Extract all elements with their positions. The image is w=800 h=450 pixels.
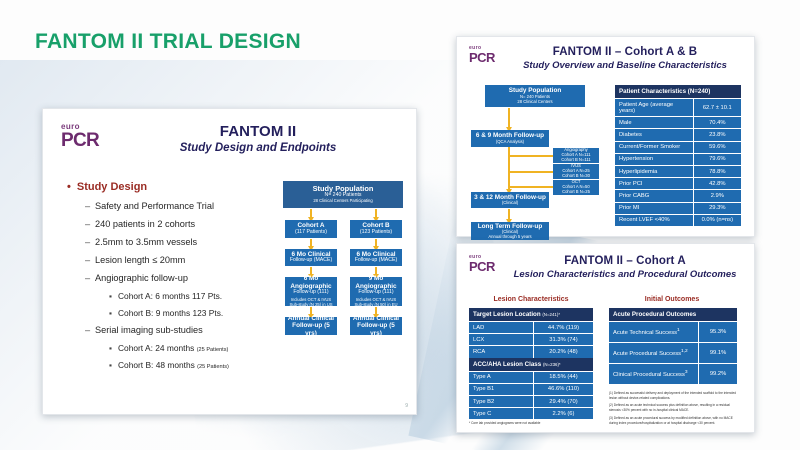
flow-arrow bbox=[508, 108, 510, 128]
bullet-subitem: ▪Cohort A: 24 months (25 Patients) bbox=[109, 343, 272, 353]
patient-characteristics-table: Patient Characteristics (N=240) Patient … bbox=[615, 85, 741, 226]
outcomes-footnote: (1) Defined as successful delivery and d… bbox=[609, 391, 737, 401]
outcomes-footnote: (2) Defined as an acute technical succes… bbox=[609, 403, 737, 413]
bullet-dot-icon: • bbox=[67, 181, 71, 193]
slide-c-title-block: FANTOM II – Cohort A Lesion Characterist… bbox=[505, 255, 745, 280]
table-row: Acute Procedural Success1,299.1% bbox=[609, 342, 737, 363]
lesion-characteristics-table: Target Lesion Location (N=241)* LAD44.7%… bbox=[469, 308, 593, 426]
table-row: Acute Technical Success195.3% bbox=[609, 322, 737, 343]
europcr-logo-pcr: PCR bbox=[469, 51, 495, 64]
flow-arrow bbox=[375, 239, 377, 247]
outcomes-footnote: (3) Defined as an acute procedural succe… bbox=[609, 416, 737, 426]
table-row: Type B229.4% (70) bbox=[469, 395, 593, 407]
table-row: Hyperlipidemia78.8% bbox=[615, 165, 741, 177]
flow-node-a-clinical-fu: 6 Mo ClinicalFollow-up (MACE) bbox=[285, 249, 337, 266]
slide-b-title-block: FANTOM II – Cohort A & B Study Overview … bbox=[505, 46, 745, 71]
table-row: RCA20.2% (48) bbox=[469, 346, 593, 358]
table-row: Type A18.5% (44) bbox=[469, 371, 593, 383]
flow-arrow bbox=[375, 267, 377, 275]
flow-node-study-population: Study Population N= 240 Patients 28 Clin… bbox=[283, 181, 403, 208]
flow-connector bbox=[509, 186, 554, 188]
slide-a-subtitle: Study Design and Endpoints bbox=[133, 142, 383, 154]
slide-c-title: FANTOM II – Cohort A bbox=[505, 255, 745, 267]
bullet-item: –2.5mm to 3.5mm vessels bbox=[85, 237, 272, 247]
slide-deck-canvas: FANTOM II TRIAL DESIGN euro PCR FANTOM I… bbox=[0, 0, 800, 450]
slide-a-title: FANTOM II bbox=[133, 123, 383, 140]
study-flowchart: Study Population N= 240 Patients 28 Clin… bbox=[283, 181, 403, 371]
table-row: Hypertension79.6% bbox=[615, 153, 741, 165]
flow-node-b-angio-fu: 9 Mo AngiographicFollow-up (111) Include… bbox=[350, 277, 402, 306]
table-header-row: Patient Characteristics (N=240) bbox=[615, 85, 741, 99]
bullet-subitem: ▪Cohort A: 6 months 117 Pts. bbox=[109, 291, 272, 301]
table-header: Patient Characteristics (N=240) bbox=[615, 85, 741, 99]
acute-outcomes-table: Acute Procedural Outcomes Acute Technica… bbox=[609, 308, 737, 426]
flow-node-ivus: IVUSCohort A N=25Cohort B N=30 bbox=[553, 164, 599, 179]
slide-a-title-block: FANTOM II Study Design and Endpoints bbox=[133, 123, 383, 154]
flow-node-b-annual-fu: Annual ClinicalFollow-up (5 yrs) bbox=[350, 317, 402, 335]
flow-arrow bbox=[310, 209, 312, 218]
flow-node-cohort-a: Cohort A(117 Patients) bbox=[285, 220, 337, 238]
flow-arrow bbox=[310, 239, 312, 247]
table-row: Prior PCI42.8% bbox=[615, 178, 741, 190]
table-row: Type C2.2% (6) bbox=[469, 408, 593, 420]
europcr-logo: euro PCR bbox=[469, 46, 495, 64]
table-row: Male70.4% bbox=[615, 117, 741, 129]
bullet-subitem: ▪Cohort B: 48 months (25 Patients) bbox=[109, 360, 272, 370]
flow-node-oct: OCTCohort A N=50Cohort B N=25 bbox=[553, 180, 599, 195]
flow-connector bbox=[509, 171, 554, 173]
cohort-ab-flowchart: Study Population N= 240 Patients 28 Clin… bbox=[471, 85, 601, 225]
flow-node-a-annual-fu: Annual ClinicalFollow-up (5 yrs) bbox=[285, 317, 337, 335]
flow-node-long-term-fu: Long Term Follow-up(Clinical)Annual thro… bbox=[471, 222, 549, 240]
bullet-subitem: ▪Cohort B: 9 months 123 Pts. bbox=[109, 308, 272, 318]
table-header: Target Lesion Location (N=241)* bbox=[469, 308, 593, 322]
flow-node-a-angio-fu: 6 Mo AngiographicFollow-up (111) Include… bbox=[285, 277, 337, 306]
table-row: Diabetes23.8% bbox=[615, 129, 741, 141]
flow-node-3-12-month-fu: 3 & 12 Month Follow-up(Clinical) bbox=[471, 192, 549, 208]
flow-node-b-clinical-fu: 6 Mo ClinicalFollow-up (MACE) bbox=[350, 249, 402, 266]
table-row: Recent LVEF <40%0.0% (n=ns) bbox=[615, 214, 741, 226]
slide-page-number: 9 bbox=[405, 403, 408, 409]
flow-arrow bbox=[375, 209, 377, 218]
flow-node-cohort-b: Cohort B(123 Patients) bbox=[350, 220, 402, 238]
table-row: Type B146.6% (110) bbox=[469, 383, 593, 395]
bullet-item: –Lesion length ≤ 20mm bbox=[85, 255, 272, 265]
bullet-item: –240 patients in 2 cohorts bbox=[85, 219, 272, 229]
table-row: Clinical Procedural Success399.2% bbox=[609, 363, 737, 383]
bullet-heading: •Study Design bbox=[67, 181, 272, 193]
table-header: Acute Procedural Outcomes bbox=[609, 308, 737, 322]
slide-c-subtitle: Lesion Characteristics and Procedural Ou… bbox=[505, 269, 745, 280]
table-header: ACC/AHA Lesion Class (N=236)* bbox=[469, 358, 593, 372]
slide-cohort-ab[interactable]: euro PCR FANTOM II – Cohort A & B Study … bbox=[456, 36, 755, 237]
page-title: FANTOM II TRIAL DESIGN bbox=[35, 30, 301, 54]
europcr-logo: euro PCR bbox=[469, 255, 495, 273]
flow-arrow bbox=[508, 209, 510, 220]
flow-node-study-population: Study Population N= 240 Patients 28 Clin… bbox=[485, 85, 585, 107]
table-header-row: Target Lesion Location (N=241)* bbox=[469, 308, 593, 322]
flow-node-6-9-month-fu: 6 & 9 Month Follow-up(QCA Analysis) bbox=[471, 130, 549, 147]
table-header-row: ACC/AHA Lesion Class (N=236)* bbox=[469, 358, 593, 372]
table-header-row: Acute Procedural Outcomes bbox=[609, 308, 737, 322]
table-row: Prior MI29.3% bbox=[615, 202, 741, 214]
bullet-item: –Safety and Performance Trial bbox=[85, 201, 272, 211]
europcr-logo-pcr: PCR bbox=[61, 131, 99, 150]
flow-node-angiography: AngiographyCohort A N=111Cohort B N=111 bbox=[553, 148, 599, 163]
slide-b-subtitle: Study Overview and Baseline Characterist… bbox=[505, 60, 745, 71]
lesion-table-footnote: * Core lab provided angiograms were not … bbox=[469, 421, 593, 426]
flow-arrow bbox=[310, 267, 312, 275]
slide-cohort-a-lesion[interactable]: euro PCR FANTOM II – Cohort A Lesion Cha… bbox=[456, 243, 755, 433]
slide-b-title: FANTOM II – Cohort A & B bbox=[505, 46, 745, 58]
flow-arrow bbox=[310, 307, 312, 315]
table-row: Prior CABG2.9% bbox=[615, 190, 741, 202]
slide-study-design[interactable]: euro PCR FANTOM II Study Design and Endp… bbox=[42, 108, 417, 415]
table-row: Patient Age (average years)62.7 ± 10.1 bbox=[615, 99, 741, 117]
lesion-characteristics-heading: Lesion Characteristics bbox=[471, 296, 591, 303]
study-design-bullets: •Study Design –Safety and Performance Tr… bbox=[67, 181, 272, 377]
initial-outcomes-heading: Initial Outcomes bbox=[612, 296, 732, 303]
europcr-logo-pcr: PCR bbox=[469, 260, 495, 273]
flow-arrow bbox=[375, 307, 377, 315]
flow-connector bbox=[509, 155, 554, 157]
flow-arrow bbox=[508, 147, 510, 190]
table-row: LAD44.7% (119) bbox=[469, 322, 593, 334]
bullet-item: –Serial imaging sub-studies bbox=[85, 325, 272, 335]
bullet-item: –Angiographic follow-up bbox=[85, 273, 272, 283]
table-row: LCX31.3% (74) bbox=[469, 334, 593, 346]
table-row: Current/Former Smoker59.6% bbox=[615, 141, 741, 153]
europcr-logo: euro PCR bbox=[61, 123, 99, 150]
